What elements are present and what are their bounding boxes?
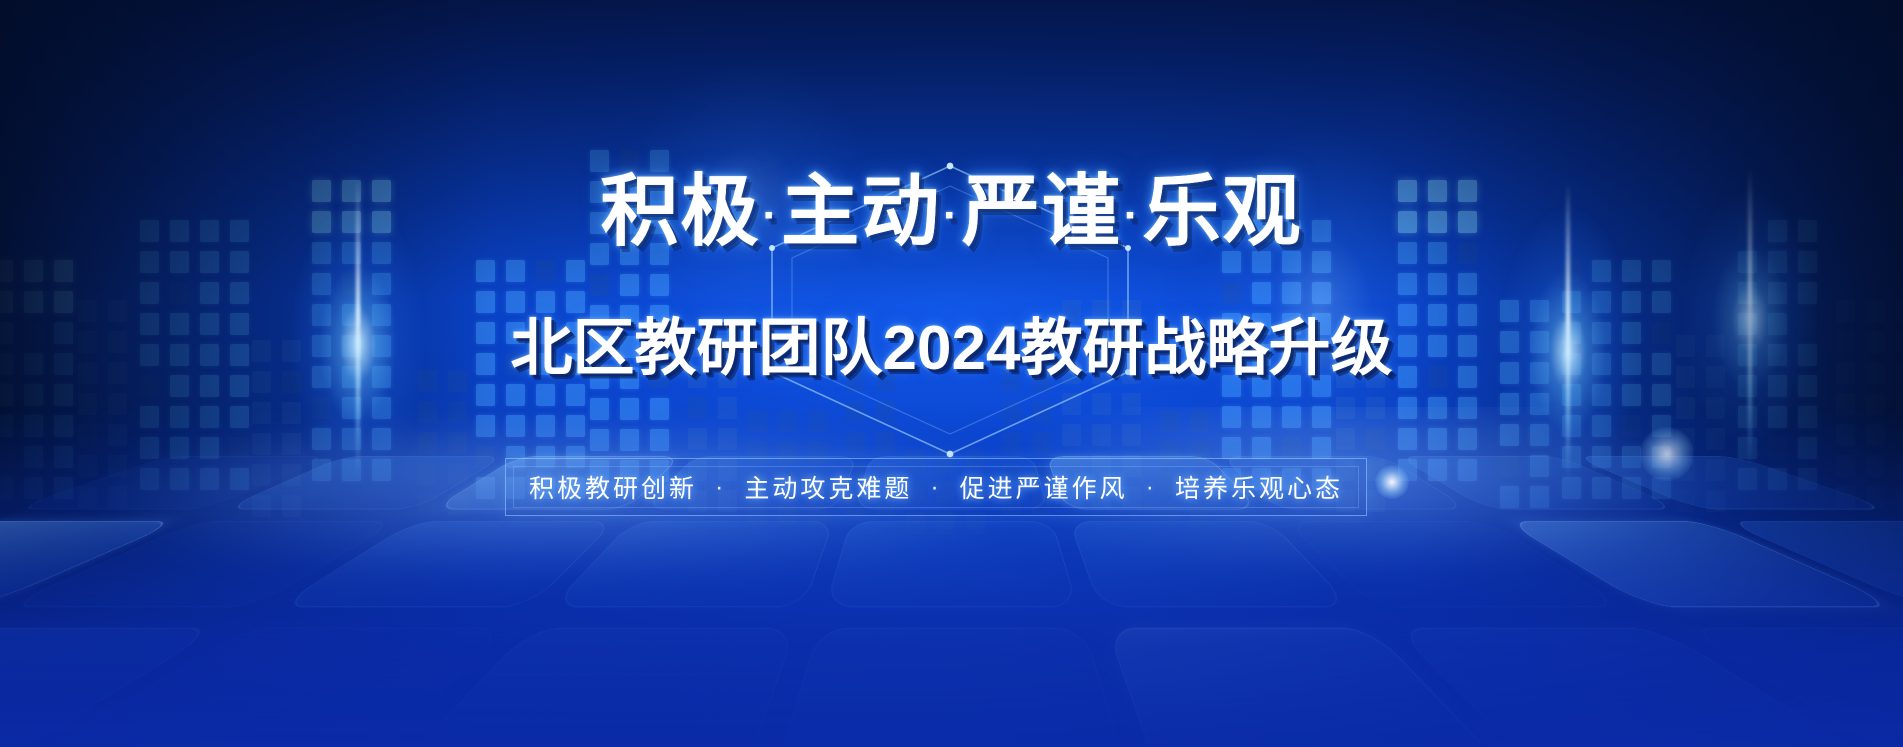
tagline-separator: ·	[713, 473, 728, 502]
main-title-separator: ·	[941, 191, 962, 240]
banner-root: 积极·主动·严谨·乐观 北区教研团队2024教研战略升级 积极教研创新·主动攻克…	[0, 0, 1903, 747]
main-title-separator: ·	[1122, 191, 1143, 240]
tagline-item: 积极教研创新	[529, 469, 697, 505]
tagline-item: 主动攻克难题	[744, 469, 912, 505]
main-title-wrap: 积极·主动·严谨·乐观	[0, 172, 1903, 250]
main-title-part: 乐观	[1143, 167, 1303, 255]
main-title: 积极·主动·严谨·乐观	[600, 172, 1302, 250]
main-title-separator: ·	[761, 191, 782, 240]
tagline-item: 促进严谨作风	[960, 469, 1128, 505]
banner-content: 积极·主动·严谨·乐观 北区教研团队2024教研战略升级 积极教研创新·主动攻克…	[0, 0, 1903, 747]
tagline-separator: ·	[928, 473, 943, 502]
tagline: 积极教研创新·主动攻克难题·促进严谨作风·培养乐观心态	[506, 459, 1366, 515]
tagline-separator: ·	[1144, 473, 1159, 502]
subtitle: 北区教研团队2024教研战略升级	[511, 318, 1393, 380]
tagline-item: 培养乐观心态	[1175, 469, 1343, 505]
tagline-box: 积极教研创新·主动攻克难题·促进严谨作风·培养乐观心态	[505, 458, 1367, 516]
main-title-part: 主动	[781, 167, 941, 255]
subtitle-wrap: 北区教研团队2024教研战略升级	[0, 318, 1903, 380]
main-title-part: 严谨	[962, 167, 1122, 255]
main-title-part: 积极	[600, 167, 760, 255]
